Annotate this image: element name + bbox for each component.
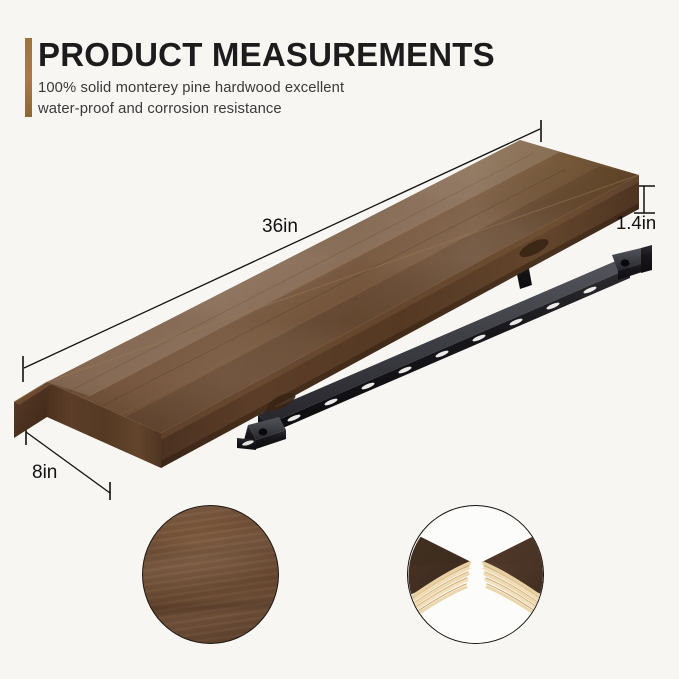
detail-closeups — [0, 495, 679, 679]
dimension-label-thickness: 1.4in — [616, 212, 656, 234]
product-measurements-infographic: PRODUCT MEASUREMENTS 100% solid monterey… — [0, 0, 679, 679]
edge-cross-section-closeup-circle — [407, 505, 544, 644]
shelf-illustration-svg — [0, 120, 679, 500]
page-title: PRODUCT MEASUREMENTS — [38, 36, 495, 74]
header: PRODUCT MEASUREMENTS 100% solid monterey… — [0, 0, 679, 135]
accent-bar — [25, 38, 32, 117]
subtitle-line-2: water-proof and corrosion resistance — [38, 99, 344, 120]
wood-grain-texture — [143, 506, 278, 643]
dimension-label-depth: 8in — [32, 462, 57, 484]
wood-grain-band-upper — [142, 536, 279, 568]
shelf-left-end-face — [14, 382, 47, 438]
dimension-label-length: 36in — [262, 216, 298, 238]
bracket-screw-hole-left — [259, 428, 268, 435]
shelf-illustration — [0, 120, 679, 500]
subtitle: 100% solid monterey pine hardwood excell… — [38, 78, 344, 120]
bracket-drop-right — [641, 245, 652, 273]
wood-grain-closeup-circle — [142, 505, 279, 644]
edge-cross-section-svg — [408, 506, 544, 644]
subtitle-line-1: 100% solid monterey pine hardwood excell… — [38, 78, 344, 99]
bracket-screw-hole-right — [621, 259, 630, 266]
